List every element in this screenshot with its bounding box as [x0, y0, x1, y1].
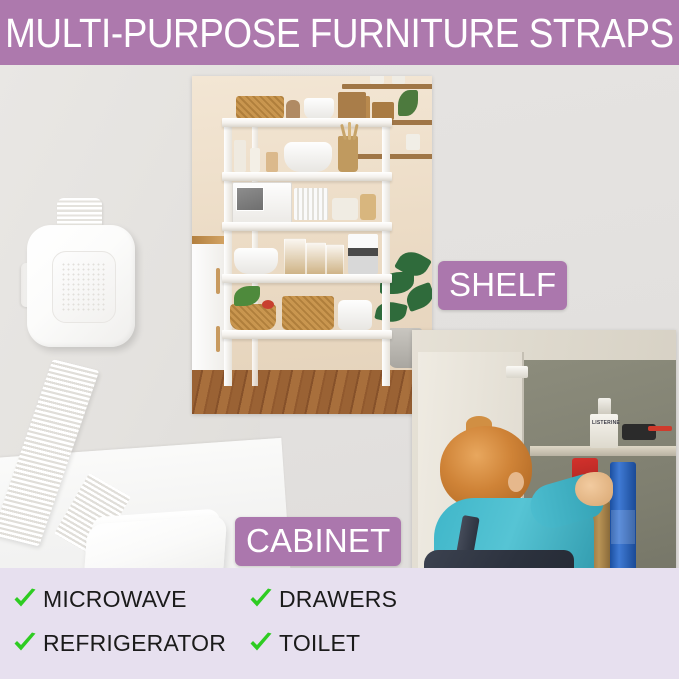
shelf-coffee-maker — [348, 234, 378, 274]
shelf-board-4 — [222, 274, 392, 283]
page-title: MULTI-PURPOSE FURNITURE STRAPS — [5, 11, 674, 54]
cabinet-red-tool — [648, 426, 672, 431]
shelf-basket-top — [236, 96, 284, 120]
shelf-board-2 — [222, 172, 392, 181]
shelf-box-top — [338, 92, 366, 120]
checklist-label: MICROWAVE — [43, 586, 187, 612]
shelf-cups — [332, 198, 358, 220]
shelf-photo — [192, 76, 432, 414]
shelf-utensil-2 — [348, 122, 351, 140]
shelf-board-5 — [222, 330, 392, 339]
shelf-large-pot — [284, 142, 332, 172]
shelf-microwave — [232, 182, 292, 224]
green-check-icon — [12, 586, 38, 612]
checklist-item-toilet: TOILET — [248, 630, 360, 656]
wall-shelf-pot-c — [406, 134, 420, 150]
wall-shelf-pot-b — [392, 76, 405, 84]
fridge-handle-lower — [216, 326, 220, 352]
mouthwash-brand-label: LISTERINE — [592, 419, 616, 427]
wall-shelf-pot-a — [370, 76, 384, 84]
checklist-label: TOILET — [279, 630, 360, 656]
fridge-handle-upper — [216, 268, 220, 294]
shelf-unit — [222, 118, 392, 383]
shelf-round-container — [338, 300, 372, 330]
checklist-item-microwave: MICROWAVE — [12, 586, 187, 612]
child-ear — [508, 472, 524, 492]
mouthwash-bottle: LISTERINE — [590, 414, 618, 448]
green-check-icon — [248, 630, 274, 656]
header-banner: MULTI-PURPOSE FURNITURE STRAPS — [0, 0, 679, 65]
shelf-utensil-holder — [338, 136, 358, 172]
blue-can-label — [611, 510, 635, 544]
fridge-body — [192, 244, 226, 374]
shelf-canister — [360, 194, 376, 220]
shelf-glass-jar-b — [306, 242, 326, 276]
green-check-icon — [248, 586, 274, 612]
latch-press-button — [52, 251, 116, 323]
shelf-dish-rack — [294, 188, 328, 220]
shelf-post-right — [382, 118, 390, 386]
button-texture-dots — [61, 262, 107, 312]
shelf-jar-a — [234, 140, 246, 172]
shelf-glass-jar-a — [284, 238, 306, 276]
shelf-pot-top — [304, 98, 334, 120]
shelf-glass-jar-c — [326, 244, 344, 276]
child-hand — [575, 472, 613, 506]
shelf-tomato — [262, 300, 274, 309]
checklist-item-refrigerator: REFRIGERATOR — [12, 630, 226, 656]
shelf-basket-woven — [282, 296, 334, 330]
shelf-vase-top — [286, 100, 300, 120]
cabinet-latch-hardware — [506, 366, 528, 378]
feature-checklist: MICROWAVE DRAWERS REFRIGERATOR TOILET — [0, 568, 679, 679]
wall-shelf-top — [342, 84, 432, 89]
shelf-jar-b — [250, 148, 260, 172]
product-infographic: MULTI-PURPOSE FURNITURE STRAPS — [0, 0, 679, 679]
shelf-figurine-a — [266, 152, 278, 172]
mouthwash-cap — [598, 398, 611, 415]
shelf-casserole — [234, 248, 278, 274]
microwave-door — [236, 187, 264, 211]
shelf-board-1 — [222, 118, 392, 127]
shelf-board-3 — [222, 222, 392, 231]
tag-cabinet: CABINET — [235, 517, 401, 566]
tag-shelf: SHELF — [438, 261, 567, 310]
shelf-post-left — [224, 118, 232, 386]
checklist-label: DRAWERS — [279, 586, 397, 612]
checklist-label: REFRIGERATOR — [43, 630, 226, 656]
checklist-item-drawers: DRAWERS — [248, 586, 397, 612]
green-check-icon — [12, 630, 38, 656]
